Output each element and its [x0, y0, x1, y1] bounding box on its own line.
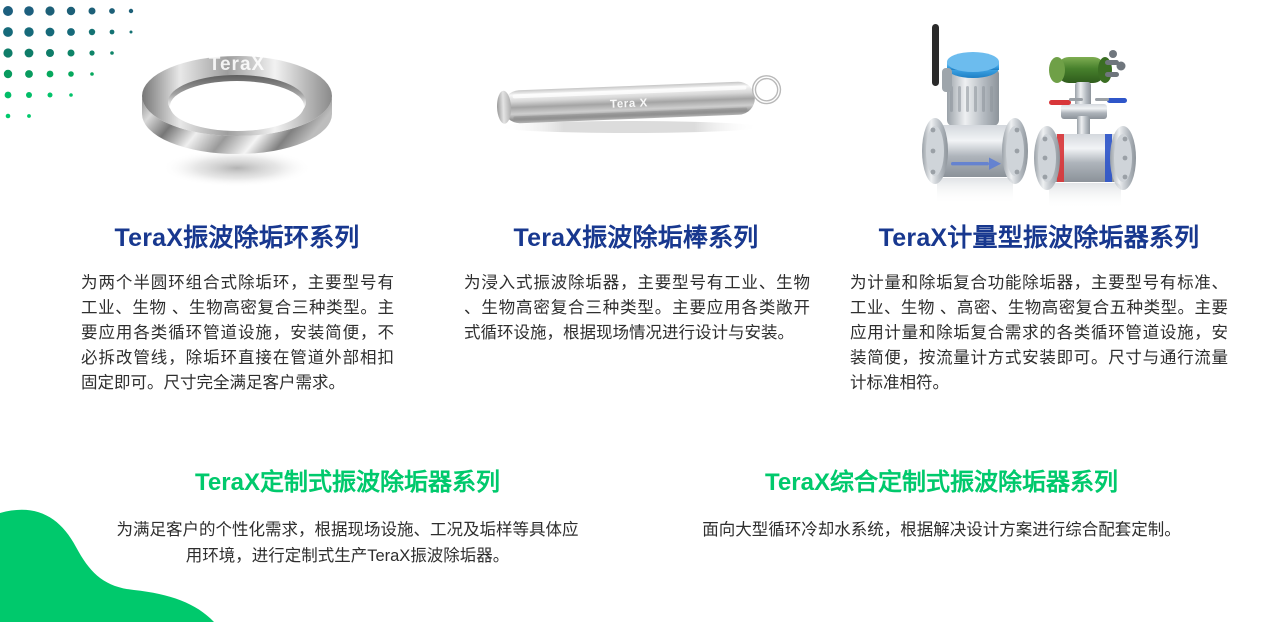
custom-series-title-custom: TeraX定制式振波除垢器系列 — [55, 462, 640, 497]
product-description-metering: 为计量和除垢复合功能除垢器，主要型号有标准、工业、生物 、高密、生物高密复合五种… — [850, 271, 1228, 396]
custom-series-title-integrated: TeraX综合定制式振波除垢器系列 — [640, 462, 1243, 497]
product-card-ring: TeraX TeraX振波除垢环系列 为两个半圆环组合式除垢环，主要型号有工业、… — [0, 0, 452, 396]
product-image-ring: TeraX — [80, 0, 394, 218]
product-description-rod: 为浸入式振波除垢器，主要型号有工业、生物 、生物高密复合三种类型。主要应用各类敞… — [464, 271, 810, 346]
product-title-rod: TeraX振波除垢棒系列 — [462, 218, 810, 254]
product-title-metering: TeraX计量型振波除垢器系列 — [850, 218, 1228, 254]
svg-text:TeraX: TeraX — [208, 54, 264, 75]
product-image-metering — [850, 0, 1228, 218]
product-image-rod: Tera X — [462, 0, 810, 218]
product-card-metering: TeraX计量型振波除垢器系列 为计量和除垢复合功能除垢器，主要型号有标准、工业… — [850, 0, 1283, 396]
custom-series-description-custom: 为满足客户的个性化需求，根据现场设施、工况及垢样等具体应用环境，进行定制式生产T… — [55, 517, 640, 569]
product-title-ring: TeraX振波除垢环系列 — [80, 218, 394, 254]
custom-series-description-integrated: 面向大型循环冷却水系统，根据解决设计方案进行综合配套定制。 — [640, 517, 1243, 543]
custom-series-row: TeraX定制式振波除垢器系列 为满足客户的个性化需求，根据现场设施、工况及垢样… — [0, 462, 1283, 569]
custom-series-panel-integrated: TeraX综合定制式振波除垢器系列 面向大型循环冷却水系统，根据解决设计方案进行… — [640, 462, 1283, 569]
svg-text:Tera X: Tera X — [609, 97, 647, 110]
product-description-ring: 为两个半圆环组合式除垢环，主要型号有工业、生物 、生物高密复合三种类型。主要应用… — [81, 271, 394, 396]
product-row: TeraX TeraX振波除垢环系列 为两个半圆环组合式除垢环，主要型号有工业、… — [0, 0, 1283, 430]
custom-series-panel-custom: TeraX定制式振波除垢器系列 为满足客户的个性化需求，根据现场设施、工况及垢样… — [0, 462, 640, 569]
product-card-rod: Tera X TeraX振波除垢棒系列 为浸入式振波除垢器，主要型号有工业、生物… — [452, 0, 850, 346]
